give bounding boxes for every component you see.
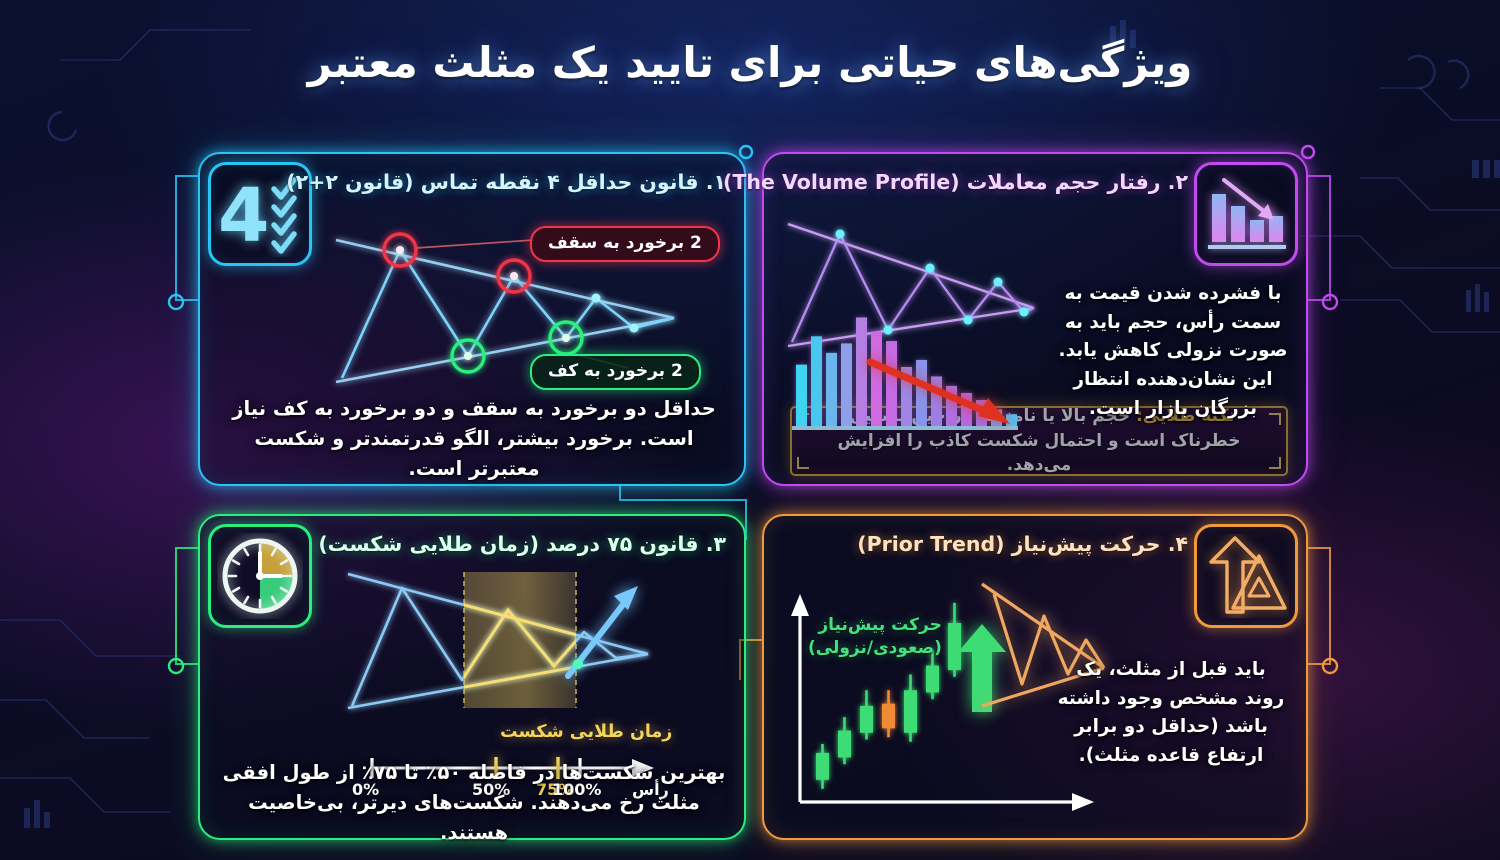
page-title: ویژگی‌های حیاتی برای تایید یک مثلث معتبر (0, 38, 1500, 87)
panel-title-1: ۱. قانون حداقل ۴ نقطه تماس (قانون ۲+۲) (286, 170, 726, 194)
panel-prior-trend: ۴. حرکت پیش‌نیاز (Prior Trend) (762, 514, 1308, 840)
candle-body (926, 666, 939, 693)
panel-title-4: ۴. حرکت پیش‌نیاز (Prior Trend) (857, 532, 1188, 556)
golden-window-label: زمان طلایی شکست (500, 722, 672, 742)
candle-body (838, 731, 851, 758)
candle-body (904, 690, 917, 733)
panel-title-3: ۳. قانون ۷۵ درصد (زمان طلایی شکست) (318, 532, 726, 556)
panel-title-2: ۲. رفتار حجم معاملات (The Volume Profile… (723, 170, 1188, 194)
prior-trend-label-line1: حرکت پیش‌نیاز (808, 614, 942, 637)
infographic-root: ویژگی‌های حیاتی برای تایید یک مثلث معتبر… (0, 0, 1500, 860)
volume-bar (916, 360, 927, 426)
volume-bar (826, 353, 837, 426)
declining-bars-arrow-icon (1202, 172, 1290, 256)
clock-icon (217, 533, 303, 619)
volume-bar (811, 336, 822, 426)
volume-bar (886, 341, 897, 426)
prior-trend-label: حرکت پیش‌نیاز (صعودی/نزولی) (808, 614, 942, 660)
volume-bar (1006, 414, 1017, 426)
up-arrow-triangle-icon (1203, 534, 1289, 618)
clock-icon-badge (208, 524, 312, 628)
candle-body (882, 704, 895, 729)
volume-bar (841, 343, 852, 426)
candle-body (860, 706, 873, 733)
panel-four-touch-rule: 4 ۱. قانون حداقل ۴ نقطه تماس (قانون ۲+۲) (198, 152, 746, 486)
prior-trend-label-line2: (صعودی/نزولی) (808, 637, 942, 660)
panel-volume-profile: ۲. رفتار حجم معاملات (The Volume Profile… (762, 152, 1308, 486)
volume-bar (871, 332, 882, 426)
candle-body (816, 753, 829, 780)
declining-bars-arrow-icon-badge (1194, 162, 1298, 266)
volume-profile-chart (778, 202, 1068, 452)
golden-timing-chart (328, 558, 728, 738)
panel-body-1: حداقل دو برخورد به سقف و دو برخورد به کف… (220, 394, 728, 485)
panel-75-percent-rule: ۳. قانون ۷۵ درصد (زمان طلایی شکست) (198, 514, 746, 840)
up-arrow-triangle-icon-badge (1194, 524, 1298, 628)
candle-body (948, 623, 961, 670)
panel-body-3: بهترین شکست‌ها در فاصله ۵۰٪ تا ۷۵٪ از طو… (220, 758, 728, 849)
svg-text:4: 4 (218, 173, 270, 257)
ceiling-touch-badge: 2 برخورد به سقف (530, 226, 720, 262)
panel-body-2: با فشرده شدن قیمت به سمت رأس، حجم باید ب… (1054, 280, 1292, 423)
volume-bar (856, 317, 867, 426)
panel-body-4: باید قبل از مثلث، یک روند مشخص وجود داشت… (1056, 656, 1286, 771)
floor-touch-badge: 2 برخورد به کف (530, 354, 701, 390)
volume-bar (796, 365, 807, 426)
volume-bar (931, 376, 942, 426)
